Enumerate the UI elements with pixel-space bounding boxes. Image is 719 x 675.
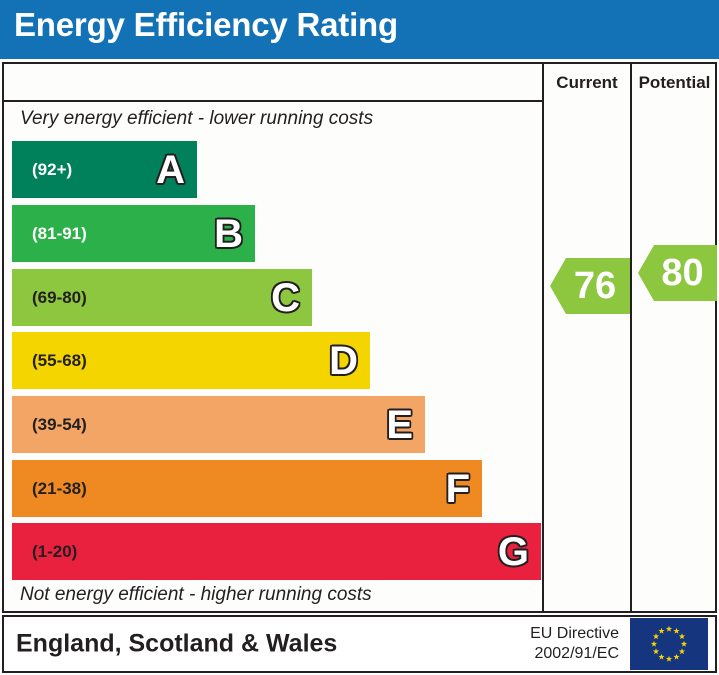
footer-directive-line1: EU Directive (530, 624, 619, 644)
band-row-g: (1-20)G (12, 523, 541, 580)
current-rating-value: 76 (566, 267, 624, 305)
band-letter-b: B (214, 214, 243, 254)
footer-directive-line2: 2002/91/EC (530, 644, 619, 664)
footer: England, Scotland & Wales EU Directive 2… (2, 615, 717, 673)
band-range-a: (92+) (32, 160, 72, 180)
header-separator (4, 100, 542, 102)
column-divider-current (542, 64, 544, 611)
chart-body: Current Potential Very energy efficient … (2, 62, 717, 613)
band-letter-e: E (386, 405, 413, 445)
band-range-e: (39-54) (32, 415, 87, 435)
page-title: Energy Efficiency Rating (14, 6, 398, 44)
band-range-c: (69-80) (32, 288, 87, 308)
column-header-current: Current (544, 71, 630, 95)
band-letter-d: D (329, 341, 358, 381)
band-row-c: (69-80)C (12, 269, 312, 326)
band-letter-c: C (271, 278, 300, 318)
band-range-g: (1-20) (32, 542, 77, 562)
column-header-potential: Potential (632, 71, 717, 95)
band-letter-f: F (446, 469, 470, 509)
energy-efficiency-rating-chart: Energy Efficiency Rating Current Potenti… (0, 0, 719, 675)
band-range-d: (55-68) (32, 351, 87, 371)
eu-flag-icon (630, 618, 708, 670)
title-bar: Energy Efficiency Rating (0, 0, 719, 59)
band-letter-g: G (498, 532, 529, 572)
band-range-f: (21-38) (32, 479, 87, 499)
band-row-a: (92+)A (12, 141, 197, 198)
footer-directive: EU Directive 2002/91/EC (530, 624, 619, 664)
band-row-f: (21-38)F (12, 460, 482, 517)
band-row-e: (39-54)E (12, 396, 425, 453)
footer-region-label: England, Scotland & Wales (16, 630, 337, 659)
band-letter-a: A (156, 150, 185, 190)
band-range-b: (81-91) (32, 224, 87, 244)
potential-rating-value: 80 (654, 254, 711, 292)
caption-top: Very energy efficient - lower running co… (20, 108, 373, 130)
current-rating-arrow: 76 (550, 258, 630, 314)
band-row-b: (81-91)B (12, 205, 255, 262)
column-divider-potential (630, 64, 632, 611)
potential-rating-arrow: 80 (638, 245, 717, 301)
band-row-d: (55-68)D (12, 332, 370, 389)
caption-bottom: Not energy efficient - higher running co… (20, 584, 372, 606)
